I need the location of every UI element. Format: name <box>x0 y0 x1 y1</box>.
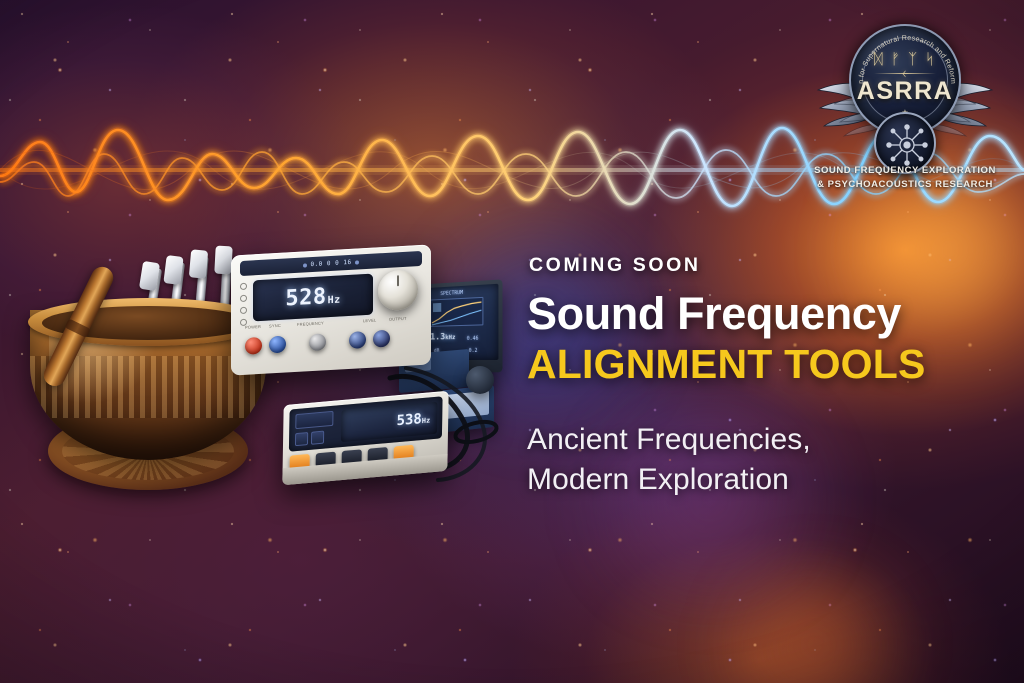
poster-canvas: SPECTRUM 1.3kHz 0.46 dB 0.2 0.0 0 0 16 <box>0 0 1024 683</box>
vignette-overlay <box>0 0 1024 683</box>
